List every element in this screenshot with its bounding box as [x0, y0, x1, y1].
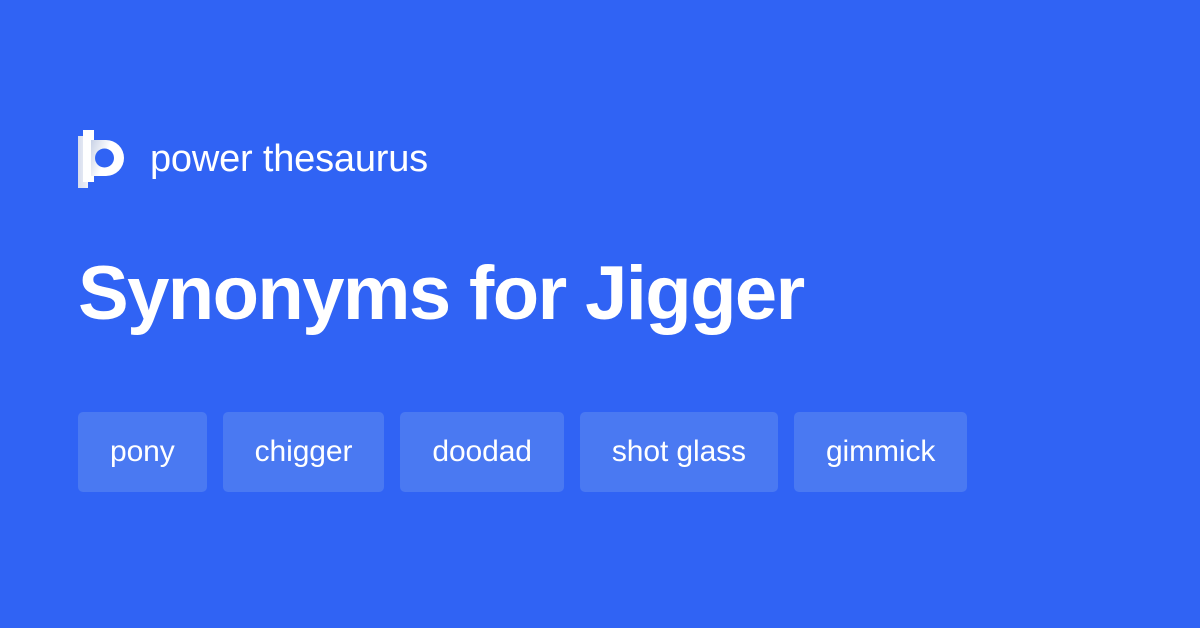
page-title: Synonyms for Jigger	[78, 248, 804, 340]
og-preview-card: Power thesaurus Synonyms for Jigger pony…	[0, 0, 1200, 628]
synonym-chip[interactable]: pony	[78, 412, 207, 492]
synonym-chip-list: pony chigger doodad shot glass gimmick	[78, 412, 1128, 492]
brand-lockup[interactable]: Power thesaurus	[78, 128, 428, 190]
synonym-chip[interactable]: doodad	[400, 412, 564, 492]
synonym-chip[interactable]: shot glass	[580, 412, 778, 492]
power-thesaurus-b-logo-icon	[78, 130, 124, 188]
synonym-chip[interactable]: chigger	[223, 412, 385, 492]
brand-name: Power thesaurus	[150, 140, 428, 178]
synonym-chip[interactable]: gimmick	[794, 412, 967, 492]
